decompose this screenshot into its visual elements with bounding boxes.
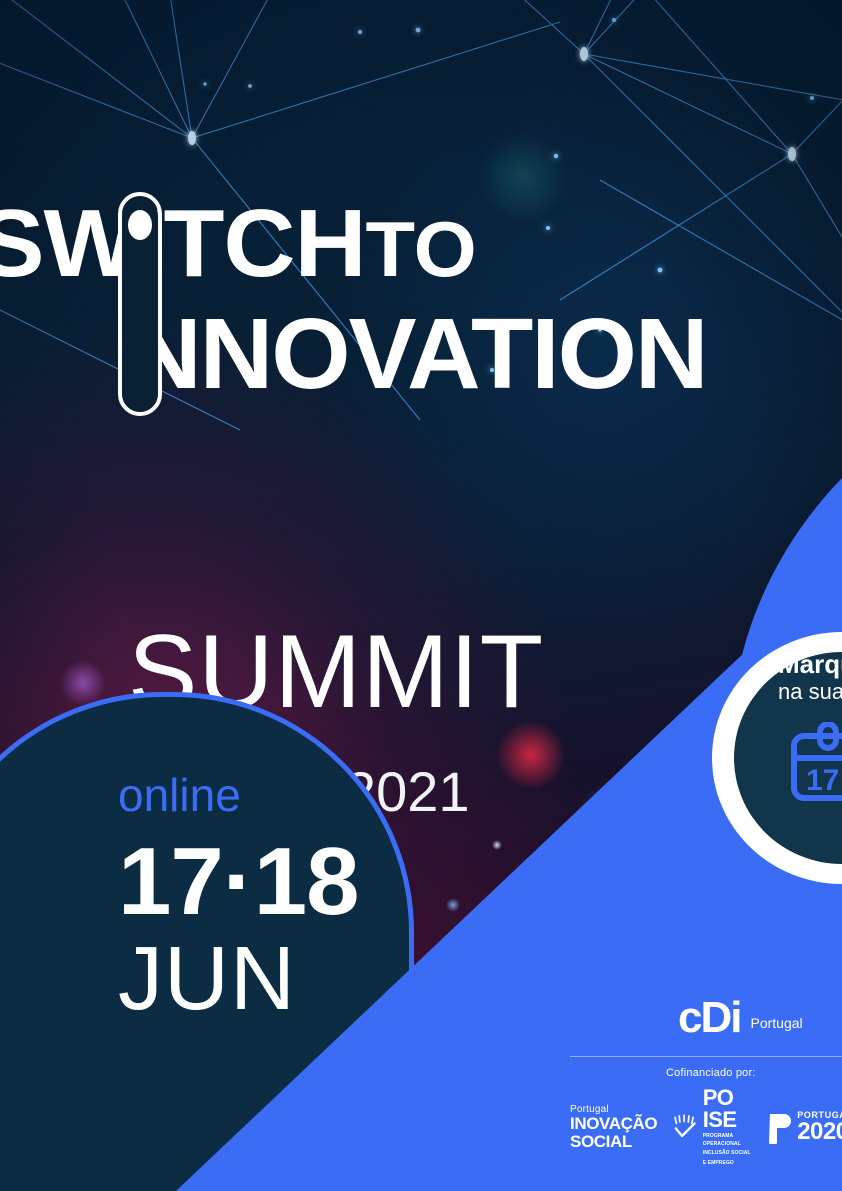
poise-sub3: E EMPREGO (703, 1160, 751, 1168)
date-month: JUN (118, 934, 359, 1024)
poster-canvas: Marque na sua 17 SWITCHTO NNOVATION SUMM… (0, 0, 842, 1191)
sponsor-portugal-inovacao-social: Portugal INOVAÇÃO SOCIAL (570, 1104, 657, 1151)
pis-line3: SOCIAL (570, 1133, 657, 1151)
date-badge-content: online 17·18 JUN (118, 772, 359, 1024)
portugal2020-big: 2020 (797, 1120, 842, 1144)
save-badge-line2: na sua (778, 679, 842, 704)
date-days: 17·18 (118, 834, 359, 930)
sponsor-po-ise: PO ISE PROGRAMA OPERACIONAL INCLUSÃO SOC… (673, 1087, 751, 1167)
sponsor-logo-row: Portugal INOVAÇÃO SOCIAL (566, 1087, 842, 1167)
poise-wordmark: PO ISE (703, 1087, 751, 1131)
hand-check-icon (673, 1109, 697, 1145)
calendar-icon: 17 (790, 722, 842, 804)
save-the-date-text: Marque na sua (778, 650, 842, 704)
portugal-2020-leaf-icon (767, 1110, 793, 1144)
save-badge-line1: Marque (778, 650, 842, 679)
cofinanced-label: Cofinanciado por: (666, 1067, 842, 1079)
cdi-wordmark: cDi (678, 1000, 740, 1036)
calendar-day-number: 17 (806, 764, 839, 797)
poise-sub2: INCLUSÃO SOCIAL (703, 1150, 751, 1158)
footer-logos: cDi Portugal Cofinanciado por: Portugal … (566, 1000, 842, 1167)
cdi-logo[interactable]: cDi Portugal (566, 1000, 842, 1036)
cdi-country-label: Portugal (750, 1015, 802, 1036)
footer-divider (570, 1056, 842, 1057)
poise-sub1: PROGRAMA OPERACIONAL (703, 1133, 751, 1148)
sponsor-portugal-2020: PORTUGAL 2020 (767, 1110, 842, 1144)
pis-line2: INOVAÇÃO (570, 1115, 657, 1133)
date-mode-label: online (118, 772, 359, 818)
